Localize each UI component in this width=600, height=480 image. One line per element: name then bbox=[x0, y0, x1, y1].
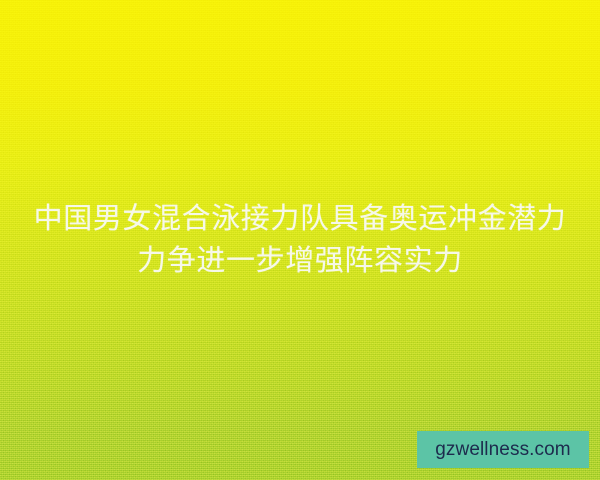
headline-line-2: 力争进一步增强阵容实力 bbox=[0, 240, 600, 282]
poster-canvas: 中国男女混合泳接力队具备奥运冲金潜力 力争进一步增强阵容实力 gzwellnes… bbox=[0, 0, 600, 480]
watermark-badge: gzwellness.com bbox=[417, 431, 589, 468]
watermark-label: gzwellness.com bbox=[435, 439, 571, 461]
headline-line-1: 中国男女混合泳接力队具备奥运冲金潜力 bbox=[0, 198, 600, 240]
headline: 中国男女混合泳接力队具备奥运冲金潜力 力争进一步增强阵容实力 bbox=[0, 198, 600, 282]
